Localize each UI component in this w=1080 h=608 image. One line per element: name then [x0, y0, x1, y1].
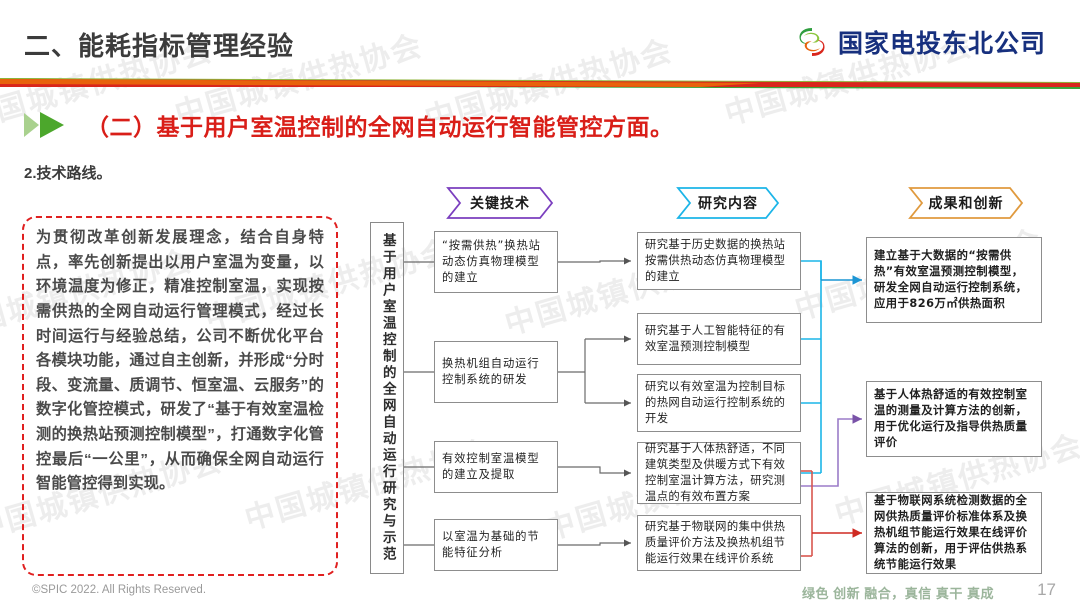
key-tech-box-3: 有效控制室温模型的建立及提取 — [434, 441, 558, 493]
slogan-text: 绿色 创新 融合，真信 真干 真成 — [802, 583, 994, 602]
column-header-label: 研究内容 — [698, 193, 758, 213]
outcome-box-label: 基于物联网系统检测数据的全网供热质量评价标准体系及换热机组节能运行效果在线评价算… — [874, 493, 1034, 573]
column-header-3: 成果和创新 — [908, 186, 1024, 220]
column-header-label: 成果和创新 — [929, 193, 1004, 213]
key-tech-box-4: 以室温为基础的节能特征分析 — [434, 519, 558, 571]
column-header-2: 研究内容 — [676, 186, 780, 220]
slide-canvas: 中国城镇供热协会中国城镇供热协会中国城镇供热协会中国城镇供热协会中国城镇供热协会… — [0, 0, 1080, 608]
research-box-2: 研究基于人工智能特征的有效室温预测控制模型 — [637, 313, 801, 365]
research-box-3: 研究以有效室温为控制目标的热网自动运行控制系统的开发 — [637, 374, 801, 432]
research-box-4: 研究基于人体热舒适，不同建筑类型及供暖方式下有效控制室温计算方法，研究测温点的有… — [637, 442, 801, 504]
research-box-1: 研究基于历史数据的换热站按需供热动态仿真物理模型的建立 — [637, 232, 801, 290]
research-box-label: 研究以有效室温为控制目标的热网自动运行控制系统的开发 — [645, 379, 793, 427]
column-header-label: 关键技术 — [470, 193, 530, 213]
page-number: 17 — [1037, 580, 1056, 600]
research-box-label: 研究基于物联网的集中供热质量评价方法及换热机组节能运行效果在线评价系统 — [645, 519, 793, 567]
outcome-box-1: 建立基于大数据的“按需供热”有效室温预测控制模型，研发全网自动运行控制系统，应用… — [866, 237, 1042, 323]
key-tech-box-label: 有效控制室温模型的建立及提取 — [442, 451, 550, 483]
research-box-5: 研究基于物联网的集中供热质量评价方法及换热机组节能运行效果在线评价系统 — [637, 515, 801, 571]
research-box-label: 研究基于人工智能特征的有效室温预测控制模型 — [645, 323, 793, 355]
key-tech-box-1: “按需供热”换热站动态仿真物理模型的建立 — [434, 231, 558, 293]
column-header-1: 关键技术 — [446, 186, 554, 220]
copyright-text: ©SPIC 2022. All Rights Reserved. — [32, 584, 206, 596]
key-tech-box-2: 换热机组自动运行控制系统的研发 — [434, 341, 558, 403]
outcome-box-3: 基于物联网系统检测数据的全网供热质量评价标准体系及换热机组节能运行效果在线评价算… — [866, 492, 1042, 574]
research-box-label: 研究基于历史数据的换热站按需供热动态仿真物理模型的建立 — [645, 237, 793, 285]
key-tech-box-label: “按需供热”换热站动态仿真物理模型的建立 — [442, 238, 550, 286]
key-tech-box-label: 以室温为基础的节能特征分析 — [442, 529, 550, 561]
outcome-box-label: 基于人体热舒适的有效控制室温的测量及计算方法的创新，用于优化运行及指导供热质量评… — [874, 387, 1034, 451]
research-box-label: 研究基于人体热舒适，不同建筑类型及供暖方式下有效控制室温计算方法，研究测温点的有… — [645, 441, 793, 505]
key-tech-box-label: 换热机组自动运行控制系统的研发 — [442, 356, 550, 388]
outcome-box-2: 基于人体热舒适的有效控制室温的测量及计算方法的创新，用于优化运行及指导供热质量评… — [866, 381, 1042, 457]
outcome-box-label: 建立基于大数据的“按需供热”有效室温预测控制模型，研发全网自动运行控制系统，应用… — [874, 248, 1034, 312]
